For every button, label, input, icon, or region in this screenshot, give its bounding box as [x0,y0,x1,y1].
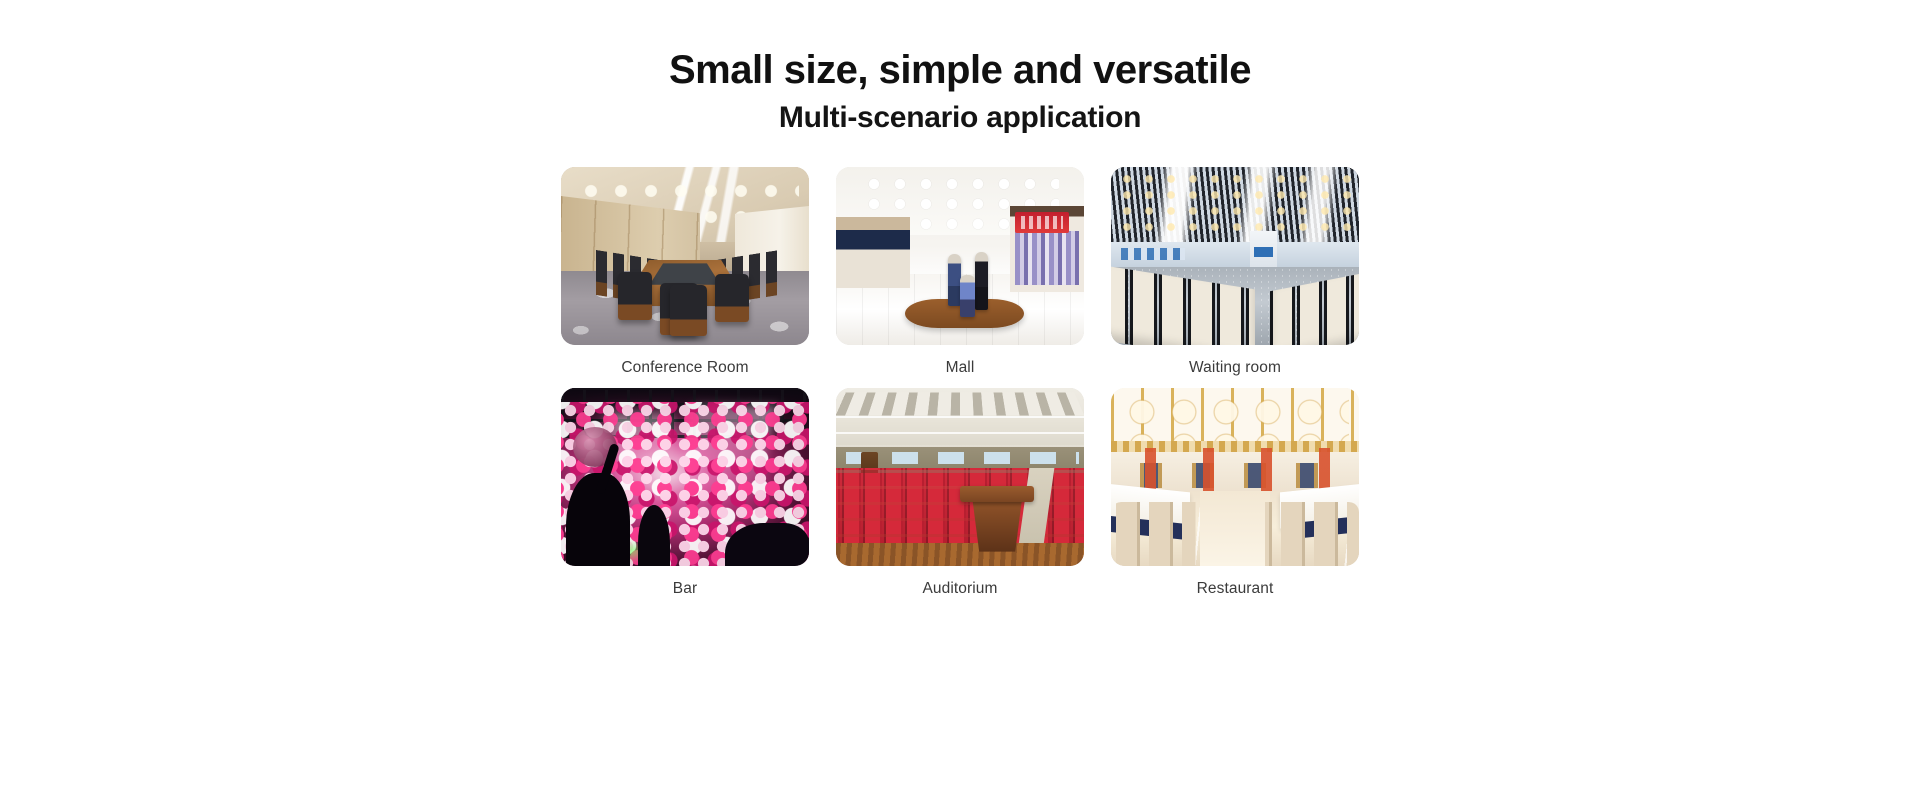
mall-illustration [836,167,1084,345]
scenario-image-auditorium [836,388,1084,566]
scenario-card-waiting-room[interactable]: Waiting room [1111,167,1359,378]
scenario-card-conference-room[interactable]: Conference Room [561,167,809,378]
scenario-grid: Conference Room Mall [561,167,1359,598]
auditorium-illustration [836,388,1084,566]
scenario-caption-conference-room: Conference Room [621,359,748,378]
page-title: Small size, simple and versatile [0,48,1920,93]
scenario-image-restaurant [1111,388,1359,566]
scenario-card-auditorium[interactable]: Auditorium [836,388,1084,599]
scenario-caption-auditorium: Auditorium [922,580,997,599]
scenario-caption-mall: Mall [946,359,975,378]
scenario-image-bar [561,388,809,566]
scenario-image-mall [836,167,1084,345]
restaurant-illustration [1111,388,1359,566]
page-subtitle: Multi-scenario application [0,101,1920,136]
waiting-room-illustration [1111,167,1359,345]
scenario-image-waiting-room [1111,167,1359,345]
scenario-caption-restaurant: Restaurant [1197,580,1274,599]
scenario-showcase-page: Small size, simple and versatile Multi-s… [0,0,1920,803]
scenario-caption-waiting-room: Waiting room [1189,359,1281,378]
scenario-card-bar[interactable]: Bar [561,388,809,599]
scenario-card-mall[interactable]: Mall [836,167,1084,378]
bar-illustration [561,388,809,566]
scenario-card-restaurant[interactable]: Restaurant [1111,388,1359,599]
scenario-image-conference-room [561,167,809,345]
header-block: Small size, simple and versatile Multi-s… [0,0,1920,135]
conference-room-illustration [561,167,809,345]
scenario-caption-bar: Bar [673,580,697,599]
